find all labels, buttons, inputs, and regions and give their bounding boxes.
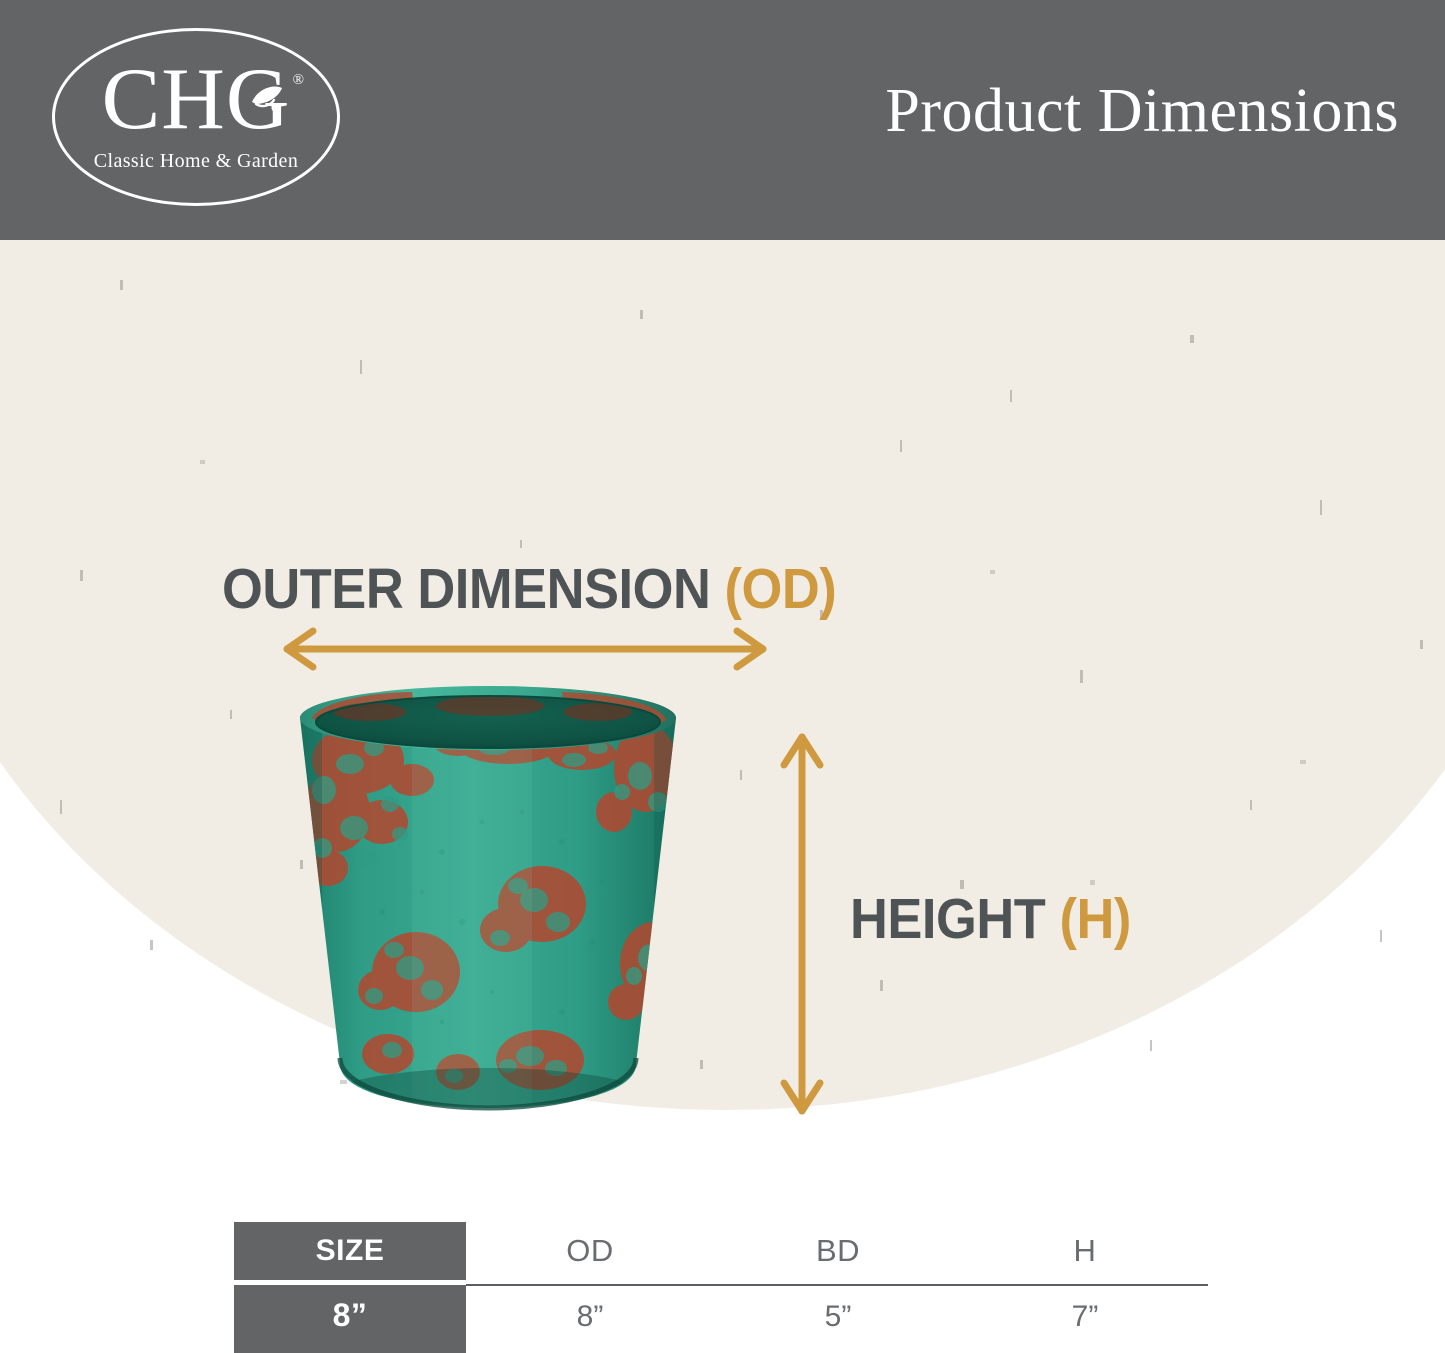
table-header-od: OD	[466, 1222, 714, 1280]
height-abbr: (H)	[1059, 887, 1130, 951]
page-title: Product Dimensions	[885, 78, 1399, 144]
table-header-h: H	[962, 1222, 1208, 1280]
table-header-bd: BD	[714, 1222, 962, 1280]
table-cell-od: 8”	[466, 1288, 714, 1346]
height-label-text: HEIGHT	[850, 887, 1059, 951]
table-cell-h: 7”	[962, 1288, 1208, 1346]
leaf-flourish-icon	[248, 82, 288, 118]
outer-dimension-label-text: OUTER DIMENSION	[222, 557, 725, 621]
registered-trademark-icon: ®	[293, 72, 304, 89]
brand-logo: CHG ® Classic Home & Garden	[52, 28, 342, 208]
planter-product-image	[262, 672, 774, 1124]
logo-tagline: Classic Home & Garden	[52, 150, 340, 173]
header-bar: CHG ® Classic Home & Garden Product Dime…	[0, 0, 1445, 240]
table-cell-bd: 5”	[714, 1288, 962, 1346]
diagram-panel: OUTER DIMENSION (OD)	[0, 240, 1445, 1125]
outer-dimension-abbr: (OD)	[725, 557, 837, 621]
dimensions-table: SIZE OD BD H 8” 8” 5” 7”	[0, 1200, 1445, 1353]
height-arrow-icon	[778, 725, 826, 1123]
logo-monogram: CHG	[52, 56, 340, 144]
height-label: HEIGHT (H)	[850, 888, 1131, 950]
od-arrow-icon	[275, 626, 775, 672]
table-divider	[466, 1284, 1208, 1286]
outer-dimension-label: OUTER DIMENSION (OD)	[222, 558, 836, 620]
product-dimensions-infographic: CHG ® Classic Home & Garden Product Dime…	[0, 0, 1445, 1353]
table-cell-size: 8”	[234, 1285, 466, 1353]
table-header-size: SIZE	[234, 1222, 466, 1280]
